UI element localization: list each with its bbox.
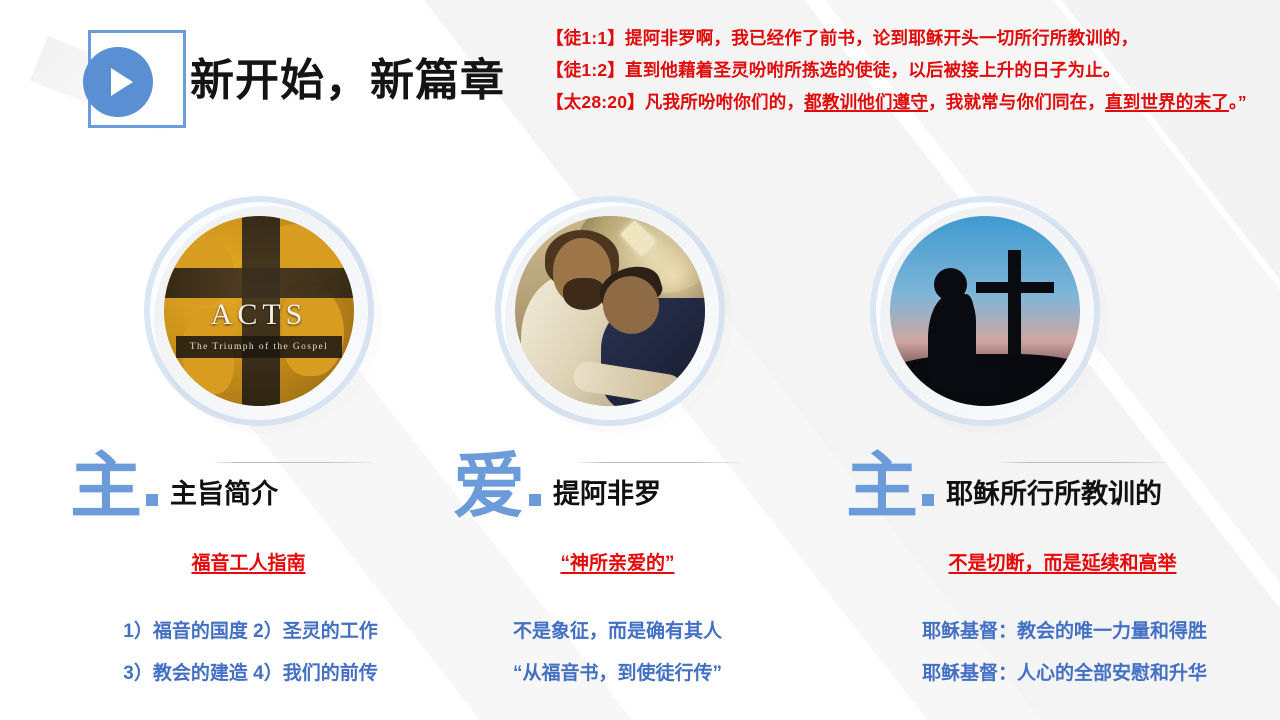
circle-image-2 bbox=[495, 196, 725, 426]
bullet-line: 1）福音的国度 2）圣灵的工作 bbox=[48, 611, 453, 653]
scripture-line-3-underline-2: 直到世界的末了 bbox=[1105, 92, 1229, 112]
acts-book-cover-image: ACTS The Triumph of the Gospel bbox=[164, 216, 354, 406]
page-title: 新开始，新篇章 bbox=[190, 44, 505, 108]
play-circle-icon[interactable] bbox=[83, 47, 153, 117]
slide-canvas: 新开始，新篇章 【徒1:1】提阿非罗啊，我已经作了前书，论到耶稣开头一切所行所教… bbox=[0, 0, 1280, 720]
scripture-line-1: 【徒1:1】提阿非罗啊，我已经作了前书，论到耶稣开头一切所行所教训的， bbox=[546, 22, 1268, 54]
column-glyph-2: 爱 bbox=[453, 454, 525, 520]
square-dot-icon-3 bbox=[922, 494, 934, 506]
column-label-3: 耶稣所行所教训的 bbox=[946, 472, 1162, 520]
column-bullets-1: 1）福音的国度 2）圣灵的工作 3）教会的建造 4）我们的前传 bbox=[48, 611, 453, 695]
column-heading-2: 爱 提阿非罗 bbox=[453, 454, 661, 520]
scripture-line-2: 【徒1:2】直到他藉着圣灵吩咐所拣选的使徒，以后被接上升的日子为止。 bbox=[546, 54, 1268, 86]
bullet-line: 耶稣基督：人心的全部安慰和升华 bbox=[862, 653, 1267, 695]
bullet-line: 耶稣基督：教会的唯一力量和得胜 bbox=[862, 611, 1267, 653]
column-redhead-3: 不是切断，而是延续和高举 bbox=[860, 548, 1265, 575]
column-bullets-2: 不是象征，而是确有其人 “从福音书，到使徒行传” bbox=[415, 611, 820, 695]
column-heading-1: 主 主旨简介 bbox=[70, 454, 278, 520]
content-column-1: ACTS The Triumph of the Gospel 主 主旨简介 福音… bbox=[62, 196, 467, 706]
content-column-2: 爱 提阿非罗 “神所亲爱的” 不是象征，而是确有其人 “从福音书，到使徒行传” bbox=[445, 196, 850, 706]
acts-title-text: ACTS bbox=[164, 298, 354, 332]
column-redhead-text-3: 不是切断，而是延续和高举 bbox=[948, 553, 1176, 574]
column-heading-3: 主 耶稣所行所教训的 bbox=[846, 454, 1162, 520]
column-redhead-text-2: “神所亲爱的” bbox=[560, 553, 674, 574]
column-glyph-3: 主 bbox=[846, 454, 918, 520]
column-label-1: 主旨简介 bbox=[170, 472, 278, 520]
content-column-3: 主 耶稣所行所教训的 不是切断，而是延续和高举 耶稣基督：教会的唯一力量和得胜 … bbox=[838, 196, 1243, 706]
circle-image-1: ACTS The Triumph of the Gospel bbox=[144, 196, 374, 426]
scripture-line-3-underline-1: 都教训他们遵守 bbox=[804, 92, 928, 112]
scripture-line-3-b: ，我就常与你们同在， bbox=[928, 92, 1105, 112]
column-redhead-1: 福音工人指南 bbox=[46, 548, 451, 575]
acts-subtitle-text: The Triumph of the Gospel bbox=[176, 337, 342, 357]
square-dot-icon-1 bbox=[146, 494, 158, 506]
scripture-block: 【徒1:1】提阿非罗啊，我已经作了前书，论到耶稣开头一切所行所教训的， 【徒1:… bbox=[546, 22, 1268, 118]
bullet-line: 不是象征，而是确有其人 bbox=[415, 611, 820, 653]
play-triangle-icon bbox=[111, 68, 133, 96]
scripture-line-3-c: 。” bbox=[1229, 92, 1247, 112]
play-button-badge[interactable] bbox=[88, 30, 186, 128]
column-bullets-3: 耶稣基督：教会的唯一力量和得胜 耶稣基督：人心的全部安慰和升华 bbox=[862, 611, 1267, 695]
circle-image-3 bbox=[870, 196, 1100, 426]
square-dot-icon-2 bbox=[529, 494, 541, 506]
column-glyph-1: 主 bbox=[70, 454, 142, 520]
bullet-line: 3）教会的建造 4）我们的前传 bbox=[48, 653, 453, 695]
praying-silhouette-image bbox=[890, 216, 1080, 406]
column-redhead-text-1: 福音工人指南 bbox=[191, 553, 305, 574]
bullet-line: “从福音书，到使徒行传” bbox=[415, 653, 820, 695]
scripture-line-3: 【太28:20】凡我所吩咐你们的，都教训他们遵守，我就常与你们同在，直到世界的末… bbox=[546, 86, 1268, 118]
column-redhead-2: “神所亲爱的” bbox=[415, 548, 820, 575]
column-label-2: 提阿非罗 bbox=[553, 472, 661, 520]
jesus-embrace-image bbox=[515, 216, 705, 406]
scripture-line-3-a: 【太28:20】凡我所吩咐你们的， bbox=[546, 92, 804, 112]
slide-header: 新开始，新篇章 【徒1:1】提阿非罗啊，我已经作了前书，论到耶稣开头一切所行所教… bbox=[0, 0, 1280, 165]
